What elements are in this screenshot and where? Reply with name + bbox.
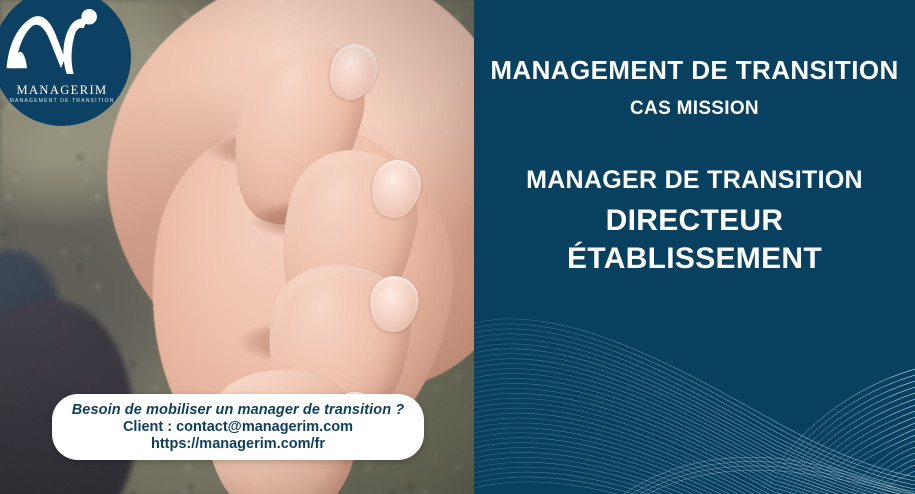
contact-question: Besoin de mobiliser un manager de transi… [72,402,405,418]
managerim-monogram-icon [0,8,129,76]
panel-subtitle: CAS MISSION [474,98,915,120]
contact-url-line[interactable]: https://managerim.com/fr [151,436,325,452]
logo-wordmark: MANAGERIM [0,83,131,98]
logo-tagline: MANAGEMENT DE TRANSITION [0,98,131,104]
slide-canvas: MANAGERIM MANAGEMENT DE TRANSITION MANAG… [0,0,915,494]
panel-title: MANAGEMENT DE TRANSITION [474,56,915,85]
contact-card[interactable]: Besoin de mobiliser un manager de transi… [52,394,424,460]
role-line-3: ÉTABLISSEMENT [474,241,915,277]
wave-decoration [474,309,915,494]
contact-email-line[interactable]: Client : contact@managerim.com [123,419,353,435]
title-panel: MANAGEMENT DE TRANSITION CAS MISSION MAN… [474,0,915,494]
role-line-2: DIRECTEUR [474,203,915,239]
role-line-1: MANAGER DE TRANSITION [474,166,915,194]
title-block: MANAGEMENT DE TRANSITION CAS MISSION MAN… [474,0,915,277]
